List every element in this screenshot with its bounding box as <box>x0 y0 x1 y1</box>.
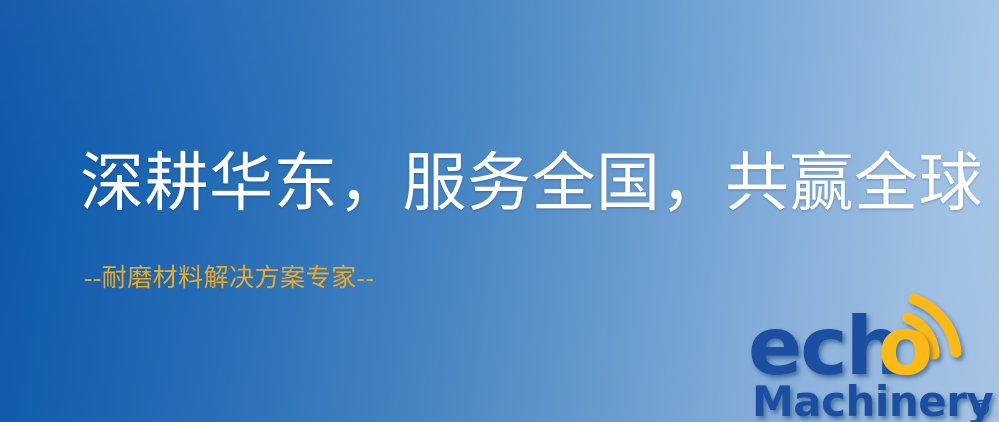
logo-trademark-symbol: ® <box>970 397 992 422</box>
banner-headline: 深耕华东，服务全国，共赢全球 <box>80 152 983 216</box>
banner-subtitle: --耐磨材料解决方案专家-- <box>84 266 374 291</box>
hero-banner: 深耕华东，服务全国，共赢全球 --耐磨材料解决方案专家-- ech o Mach… <box>0 0 999 422</box>
echo-machinery-logo[interactable]: ech o Machinery ® <box>748 296 999 422</box>
logo-company-name: Machinery <box>752 377 993 422</box>
